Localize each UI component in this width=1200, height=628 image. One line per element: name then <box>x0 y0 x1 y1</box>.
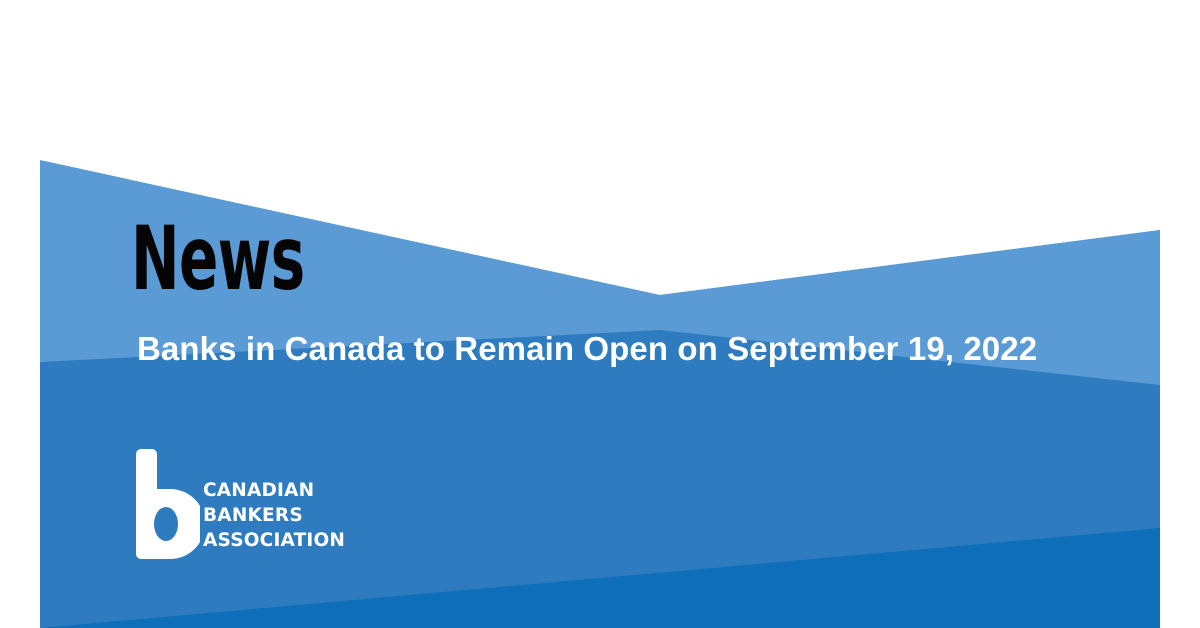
cba-logo: CANADIAN BANKERS ASSOCIATION <box>134 447 364 561</box>
news-banner: News Banks in Canada to Remain Open on S… <box>0 0 1200 628</box>
eyebrow-news-label: News <box>131 214 305 304</box>
banner-content: News Banks in Canada to Remain Open on S… <box>0 0 1200 628</box>
wordmark-line-association: ASSOCIATION <box>203 528 345 553</box>
cba-logo-b-icon <box>134 447 200 561</box>
wordmark-line-bankers: BANKERS <box>203 503 345 528</box>
b-bowl-counter <box>154 507 178 541</box>
headline-text: Banks in Canada to Remain Open on Septem… <box>137 329 1037 369</box>
cba-logo-wordmark: CANADIAN BANKERS ASSOCIATION <box>203 478 345 553</box>
wordmark-line-canadian: CANADIAN <box>203 478 345 503</box>
